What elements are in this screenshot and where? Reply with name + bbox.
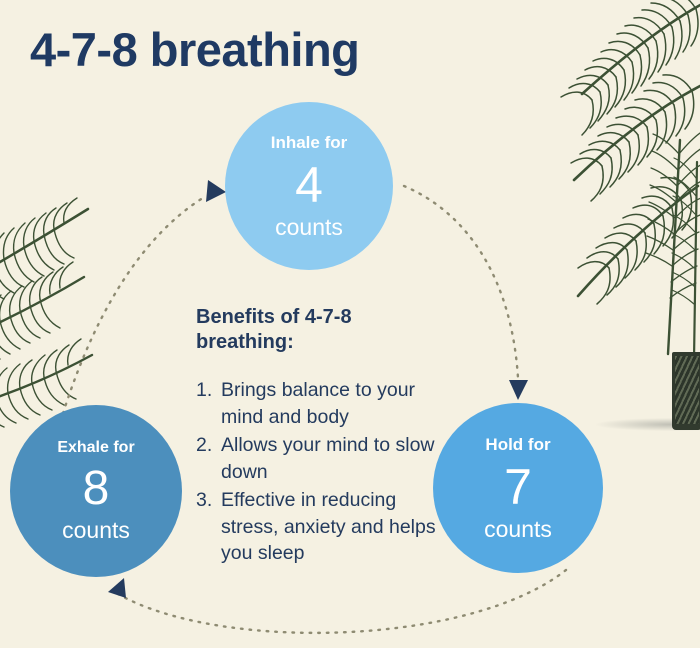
step-unit-hold: counts [484, 518, 552, 541]
step-label-exhale: Exhale for [57, 440, 134, 456]
infographic-canvas: 4-7-8 breathing Inhale for 4 counts Hold… [0, 0, 700, 648]
arrow-path-exhale-to-inhale [58, 196, 206, 430]
step-unit-inhale: counts [275, 216, 343, 239]
list-item: 2. Allows your mind to slow down [196, 432, 441, 486]
arrowhead-into-exhale [108, 578, 126, 598]
arrowhead-into-inhale [206, 180, 226, 202]
step-number-inhale: 4 [295, 160, 323, 210]
step-number-exhale: 8 [83, 465, 110, 513]
list-item-text: Brings balance to your mind and body [221, 379, 415, 428]
list-item-text: Allows your mind to slow down [221, 434, 435, 483]
list-item-text: Effective in reducing stress, anxiety an… [221, 489, 436, 565]
benefits-heading: Benefits of 4-7-8 breathing: [196, 305, 441, 355]
step-circle-hold[interactable]: Hold for 7 counts [433, 403, 603, 573]
list-item: 3. Effective in reducing stress, anxiety… [196, 487, 441, 568]
list-item-number: 3. [196, 487, 212, 514]
benefits-block: Benefits of 4-7-8 breathing: 1. Brings b… [196, 305, 441, 568]
step-label-hold: Hold for [485, 436, 550, 453]
benefits-list: 1. Brings balance to your mind and body … [196, 377, 441, 567]
list-item: 1. Brings balance to your mind and body [196, 377, 441, 431]
list-item-number: 2. [196, 432, 212, 459]
step-number-hold: 7 [504, 462, 532, 512]
list-item-number: 1. [196, 377, 212, 404]
step-circle-inhale[interactable]: Inhale for 4 counts [225, 102, 393, 270]
step-unit-exhale: counts [62, 519, 130, 542]
arrow-path-hold-to-exhale [118, 570, 566, 633]
step-label-inhale: Inhale for [271, 134, 348, 151]
step-circle-exhale[interactable]: Exhale for 8 counts [10, 405, 182, 577]
arrowhead-into-hold [509, 380, 528, 400]
